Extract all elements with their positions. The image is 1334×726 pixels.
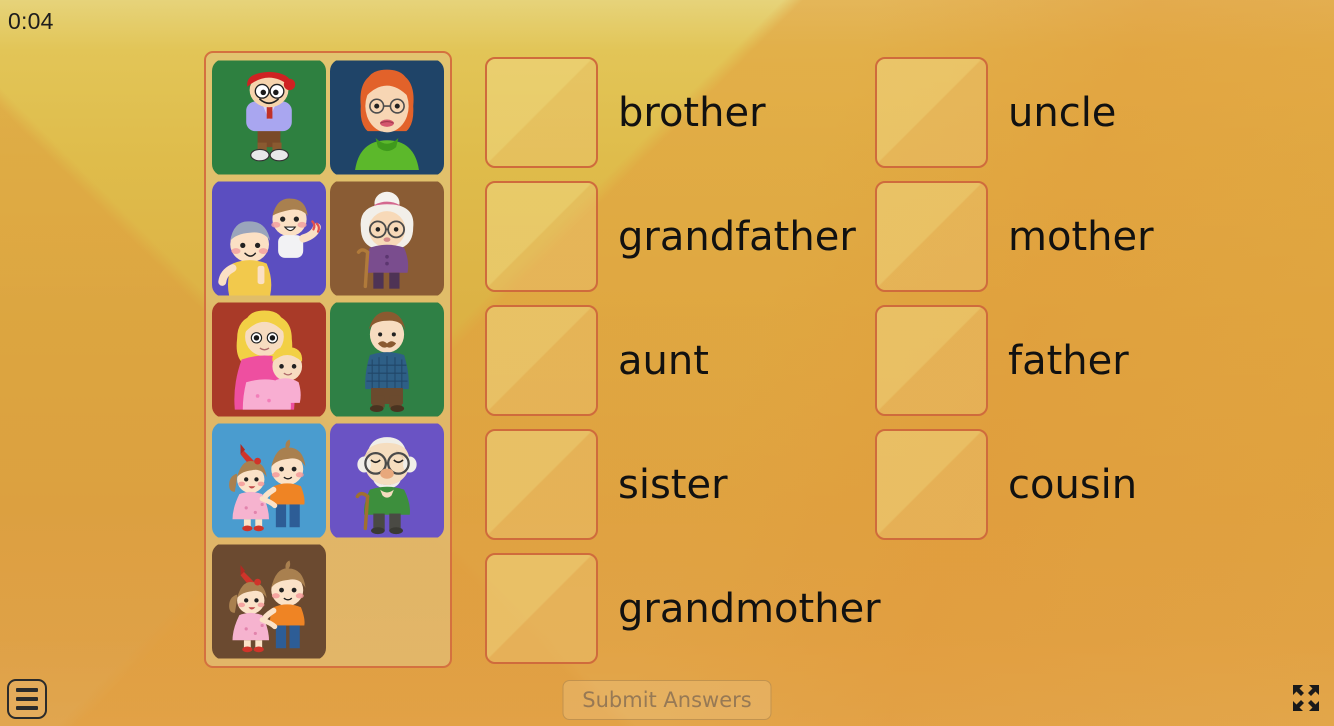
word-label-grandfather: grandfather [618,217,856,257]
drop-zone-grandmother[interactable] [485,553,598,664]
drop-zone-uncle[interactable] [875,57,988,168]
picture-tile-parent-child[interactable] [212,180,326,297]
game-timer: 0:04 [8,8,54,35]
picture-tile-old-man[interactable] [330,422,444,539]
hamburger-menu-icon[interactable] [7,679,47,719]
picture-tile-man-moustache[interactable] [330,301,444,418]
drop-zone-cousin[interactable] [875,429,988,540]
drop-zone-aunt[interactable] [485,305,598,416]
picture-tile-girl-boy-brown[interactable] [212,543,326,660]
answer-row: uncle [875,57,1154,168]
answer-row: cousin [875,429,1154,540]
menu-bar-2 [16,697,38,701]
drop-zone-mother[interactable] [875,181,988,292]
drop-zone-sister[interactable] [485,429,598,540]
word-label-brother: brother [618,93,766,133]
answer-row: sister [485,429,881,540]
answer-row: grandmother [485,553,881,664]
answer-column-right: uncle mother father cousin [875,57,1154,540]
word-label-cousin: cousin [1008,465,1137,505]
picture-tile-mother-baby[interactable] [212,301,326,418]
answer-row: brother [485,57,881,168]
submit-answers-button[interactable]: Submit Answers [563,680,772,720]
picture-tile-old-woman[interactable] [330,180,444,297]
drop-zone-grandfather[interactable] [485,181,598,292]
drop-zone-brother[interactable] [485,57,598,168]
answer-row: mother [875,181,1154,292]
word-label-mother: mother [1008,217,1154,257]
menu-bar-3 [16,706,38,710]
picture-tile-girl-boy-blue[interactable] [212,422,326,539]
picture-tile-woman-redhair[interactable] [330,59,444,176]
answer-row: grandfather [485,181,881,292]
drop-zone-father[interactable] [875,305,988,416]
picture-tile-empty-slot[interactable] [330,543,444,660]
word-label-father: father [1008,341,1129,381]
answer-row: father [875,305,1154,416]
picture-tile-grid [204,51,452,668]
word-label-grandmother: grandmother [618,589,881,629]
word-label-aunt: aunt [618,341,709,381]
picture-tile-boy-cap[interactable] [212,59,326,176]
fullscreen-expand-icon[interactable] [1286,678,1326,718]
word-label-sister: sister [618,465,728,505]
menu-bar-1 [16,688,38,692]
answer-column-left: brother grandfather aunt sister grandmot… [485,57,881,664]
word-label-uncle: uncle [1008,93,1116,133]
answer-row: aunt [485,305,881,416]
